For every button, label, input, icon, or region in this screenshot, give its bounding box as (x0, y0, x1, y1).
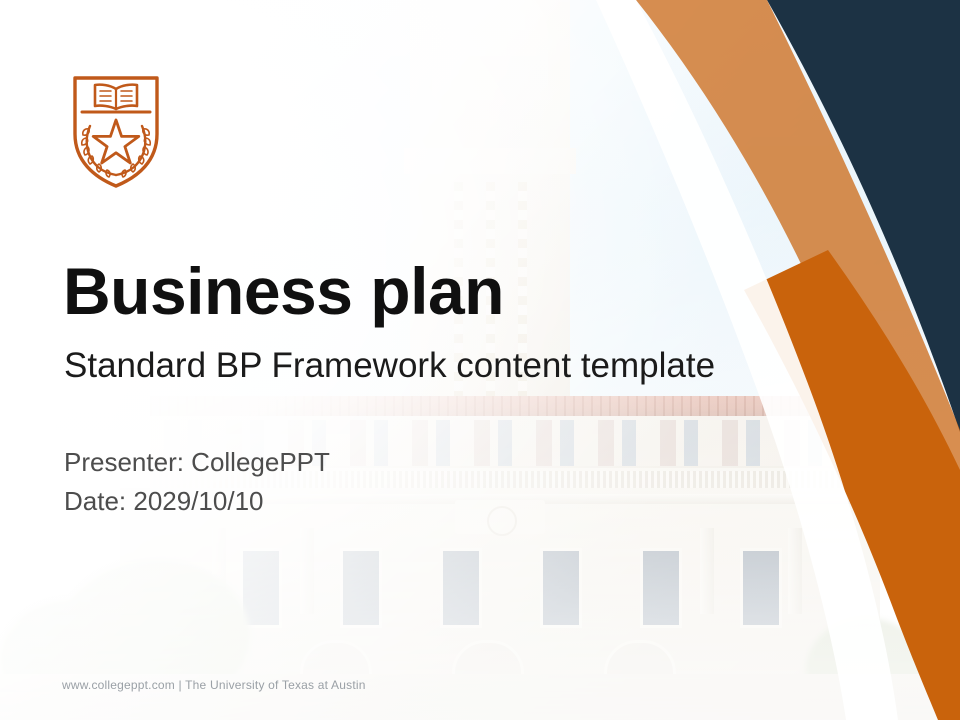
university-logo (68, 68, 164, 190)
slide-subtitle: Standard BP Framework content template (64, 348, 715, 383)
university-of-texas-shield-icon (68, 68, 164, 190)
presentation-slide: Business plan Standard BP Framework cont… (0, 0, 960, 720)
date-line: Date: 2029/10/10 (64, 482, 330, 521)
slide-title: Business plan (63, 258, 504, 324)
presenter-line: Presenter: CollegePPT (64, 443, 330, 482)
slide-footer: www.collegeppt.com | The University of T… (62, 678, 366, 692)
